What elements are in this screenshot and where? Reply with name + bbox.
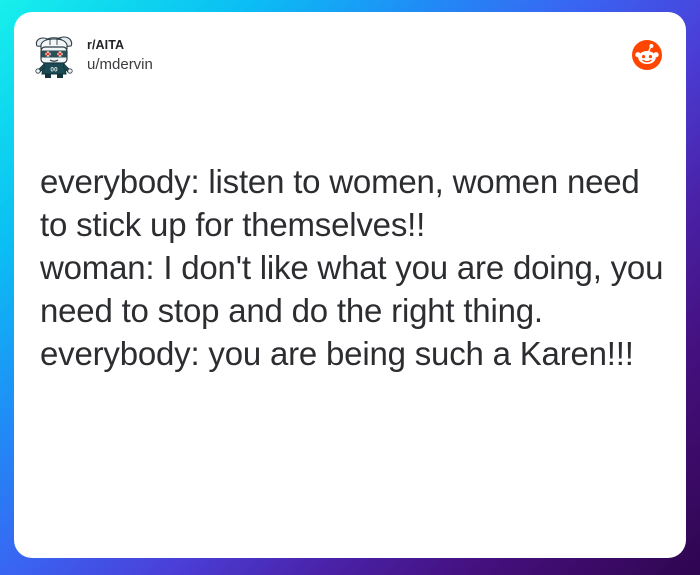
post-header: 00 r/AITA u/mdervin bbox=[14, 12, 686, 100]
reddit-post-card: 00 r/AITA u/mdervin bbox=[14, 12, 686, 558]
screenshot-root: 00 r/AITA u/mdervin bbox=[0, 0, 700, 575]
post-meta: r/AITA u/mdervin bbox=[87, 37, 153, 74]
username[interactable]: u/mdervin bbox=[87, 55, 153, 74]
post-body-text: everybody: listen to women, women need t… bbox=[40, 160, 666, 375]
snoo-avatar-icon[interactable]: 00 bbox=[33, 33, 75, 79]
reddit-logo-icon[interactable] bbox=[632, 40, 662, 70]
svg-text:00: 00 bbox=[50, 66, 58, 73]
subreddit-name[interactable]: r/AITA bbox=[87, 37, 153, 53]
